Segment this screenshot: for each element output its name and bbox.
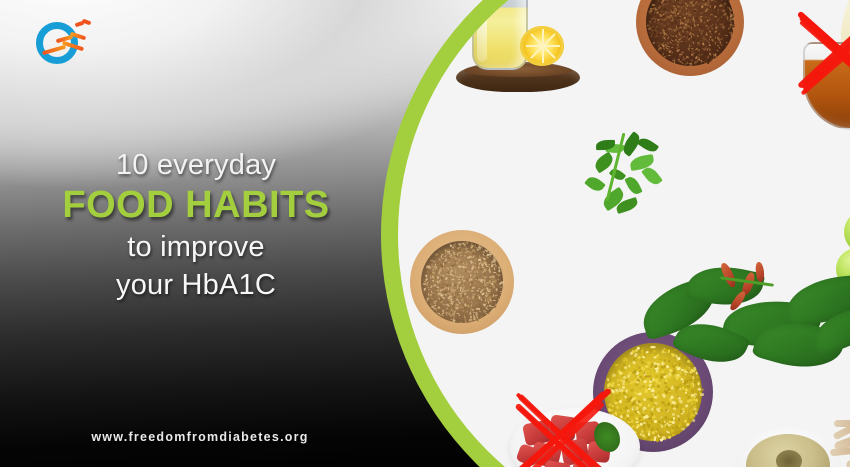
website-url[interactable]: www.freedomfromdiabetes.org [0, 430, 400, 444]
promo-banner: 10 everyday FOOD HABITS to improve your … [0, 0, 850, 467]
brand-logo[interactable] [30, 14, 96, 70]
forbidden-x-icon-milk-tea [776, 0, 850, 118]
food-collage [398, 0, 850, 467]
forbidden-x-icon-red-meat [494, 372, 622, 467]
